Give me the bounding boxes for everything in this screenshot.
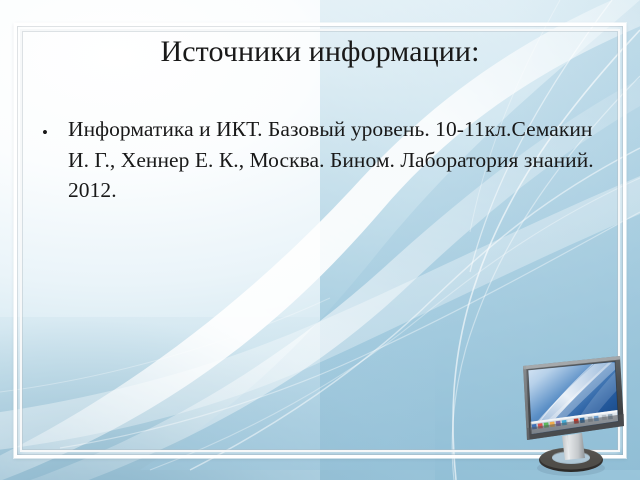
slide-canvas: Источники информации: • Информатика и ИК… (0, 0, 640, 480)
list-item-label: Информатика и ИКТ. Базовый уровень. 10-1… (68, 114, 610, 206)
source-list: • Информатика и ИКТ. Базовый уровень. 10… (30, 114, 610, 206)
page-title: Источники информации: (40, 34, 600, 69)
lcd-monitor-icon (505, 350, 635, 478)
bullet-marker-icon: • (30, 114, 68, 141)
list-item: • Информатика и ИКТ. Базовый уровень. 10… (30, 114, 610, 206)
